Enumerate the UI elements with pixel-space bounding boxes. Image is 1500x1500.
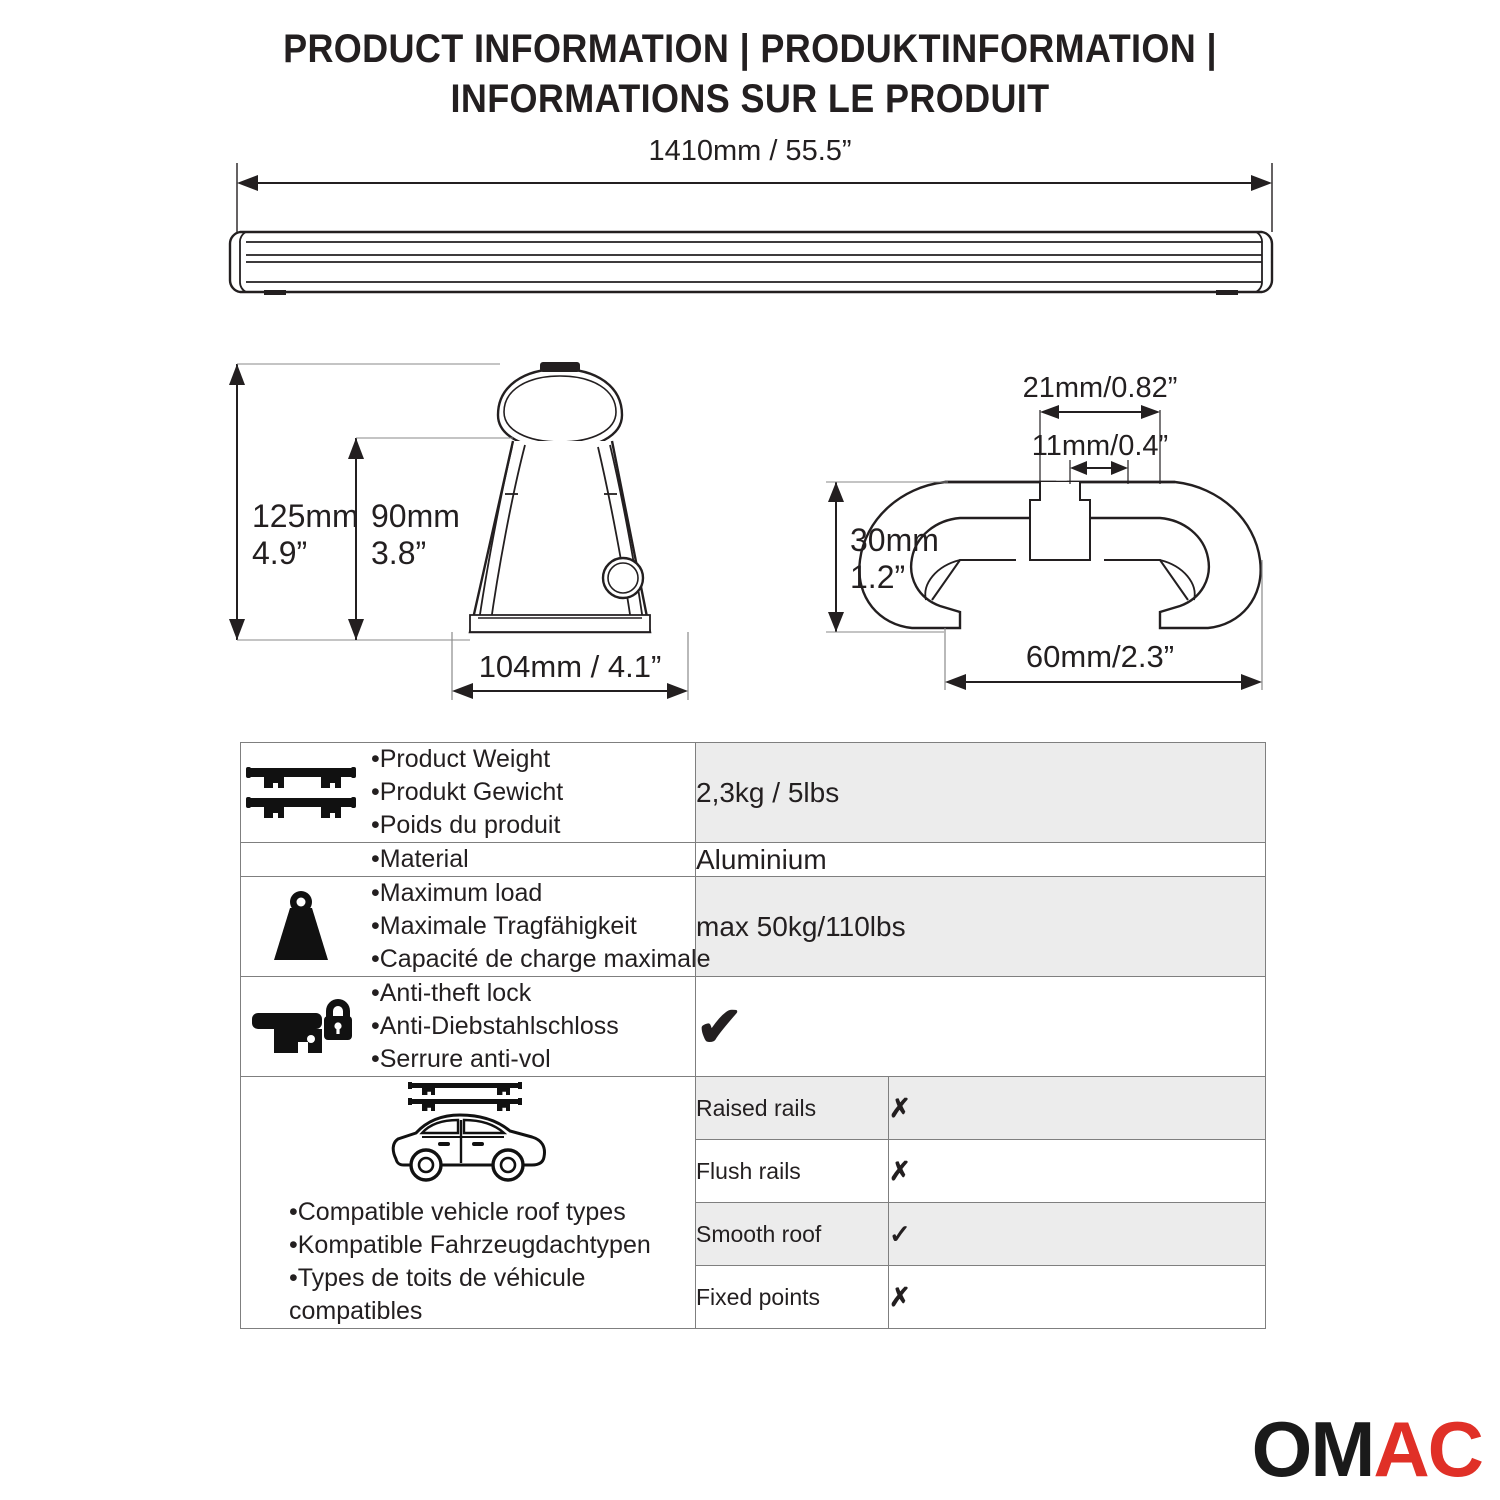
- weight-value: 2,3kg / 5lbs: [696, 743, 1266, 843]
- foot-height-dimensions: 125mm 4.9” 90mm 3.8” 104mm / 4.1”: [229, 364, 688, 700]
- crossbar-side-view: [230, 232, 1272, 295]
- roof-type-mark-flush: ✗: [889, 1140, 1266, 1203]
- table-row-roof-type-raised: •Compatible vehicle roof types •Kompatib…: [241, 1077, 1266, 1140]
- weight-icon: [241, 890, 361, 964]
- title-line-2: INFORMATIONS SUR LE PRODUIT: [75, 74, 1425, 124]
- width-104mm-label: 104mm / 4.1”: [479, 649, 662, 684]
- roof-type-name-raised: Raised rails: [696, 1077, 889, 1140]
- lock-check-mark: ✔: [696, 999, 743, 1055]
- width-60mm-label: 60mm/2.3”: [1026, 639, 1174, 674]
- length-dimension-label: 1410mm / 55.5”: [648, 135, 851, 167]
- weight-label-fr: •Poids du produit: [371, 809, 563, 842]
- height-125in-label: 4.9”: [252, 535, 307, 571]
- roof-type-mark-raised: ✗: [889, 1077, 1266, 1140]
- height-90mm-label: 90mm: [371, 498, 460, 534]
- max-load-label-text: •Maximum load •Maximale Tragfähigkeit •C…: [371, 877, 710, 976]
- max-load-label-fr: •Capacité de charge maximale: [371, 943, 710, 976]
- lock-value-cell: ✔: [696, 977, 1266, 1077]
- lock-label-cell: •Anti-theft lock •Anti-Diebstahlschloss …: [241, 977, 696, 1077]
- max-load-value: max 50kg/110lbs: [696, 877, 1266, 977]
- material-label-text: •Material: [371, 843, 469, 876]
- material-value: Aluminium: [696, 843, 1266, 877]
- lock-label-de: •Anti-Diebstahlschloss: [371, 1010, 619, 1043]
- roof-type-name-flush: Flush rails: [696, 1140, 889, 1203]
- lock-label-fr: •Serrure anti-vol: [371, 1043, 619, 1076]
- roof-types-label-text: •Compatible vehicle roof types •Kompatib…: [241, 1196, 695, 1328]
- foot-front-view: [470, 362, 650, 632]
- material-label-cell: •Material: [241, 843, 696, 877]
- roof-type-name-smooth: Smooth roof: [696, 1203, 889, 1266]
- roof-types-label-de: •Kompatible Fahrzeugdachtypen: [289, 1229, 695, 1262]
- length-dimension-group: 1410mm / 55.5”: [237, 135, 1272, 232]
- weight-label-de: •Produkt Gewicht: [371, 776, 563, 809]
- height-125mm-label: 125mm: [252, 498, 359, 534]
- max-load-label-en: •Maximum load: [371, 877, 710, 910]
- roof-types-label-fr: •Types de toits de véhicule compatibles: [289, 1262, 695, 1328]
- logo-text-dark: OM: [1252, 1405, 1374, 1493]
- height-30mm-label: 30mm: [850, 522, 939, 558]
- lock-icon: [241, 995, 361, 1059]
- logo-text-red: AC: [1373, 1405, 1482, 1493]
- roof-type-mark-fixed: ✗: [889, 1266, 1266, 1329]
- material-label-en: •Material: [371, 843, 469, 876]
- specification-table: •Product Weight •Produkt Gewicht •Poids …: [240, 742, 1266, 1329]
- roof-type-name-fixed: Fixed points: [696, 1266, 889, 1329]
- title-line-1: PRODUCT INFORMATION | PRODUKTINFORMATION…: [75, 24, 1425, 74]
- roof-types-label-en: •Compatible vehicle roof types: [289, 1196, 695, 1229]
- weight-label-text: •Product Weight •Produkt Gewicht •Poids …: [371, 743, 563, 842]
- roof-types-label-cell: •Compatible vehicle roof types •Kompatib…: [241, 1077, 696, 1329]
- table-row-product-weight: •Product Weight •Produkt Gewicht •Poids …: [241, 743, 1266, 843]
- max-load-label-de: •Maximale Tragfähigkeit: [371, 910, 710, 943]
- weight-label-en: •Product Weight: [371, 743, 563, 776]
- slot-11mm-label: 11mm/0.4”: [1032, 430, 1168, 462]
- roof-type-mark-smooth: ✓: [889, 1203, 1266, 1266]
- table-row-material: •Material Aluminium: [241, 843, 1266, 877]
- weight-label-cell: •Product Weight •Produkt Gewicht •Poids …: [241, 743, 696, 843]
- height-30in-label: 1.2”: [850, 559, 905, 595]
- lock-label-text: •Anti-theft lock •Anti-Diebstahlschloss …: [371, 977, 619, 1076]
- lock-label-en: •Anti-theft lock: [371, 977, 619, 1010]
- omac-logo: OMAC: [1252, 1408, 1482, 1490]
- page-title: PRODUCT INFORMATION | PRODUKTINFORMATION…: [0, 24, 1500, 124]
- crossbar-pair-icon: [241, 762, 361, 824]
- car-with-roofrack-icon: [241, 1077, 695, 1190]
- height-90in-label: 3.8”: [371, 535, 426, 571]
- table-row-max-load: •Maximum load •Maximale Tragfähigkeit •C…: [241, 877, 1266, 977]
- bar-profile-dimensions: 21mm/0.82” 11mm/0.4” 30mm 1.2” 60mm/2.3”: [826, 372, 1262, 690]
- max-load-label-cell: •Maximum load •Maximale Tragfähigkeit •C…: [241, 877, 696, 977]
- table-row-anti-theft-lock: •Anti-theft lock •Anti-Diebstahlschloss …: [241, 977, 1266, 1077]
- slot-21mm-label: 21mm/0.82”: [1023, 372, 1178, 404]
- bar-profile-cross-section: [859, 482, 1260, 628]
